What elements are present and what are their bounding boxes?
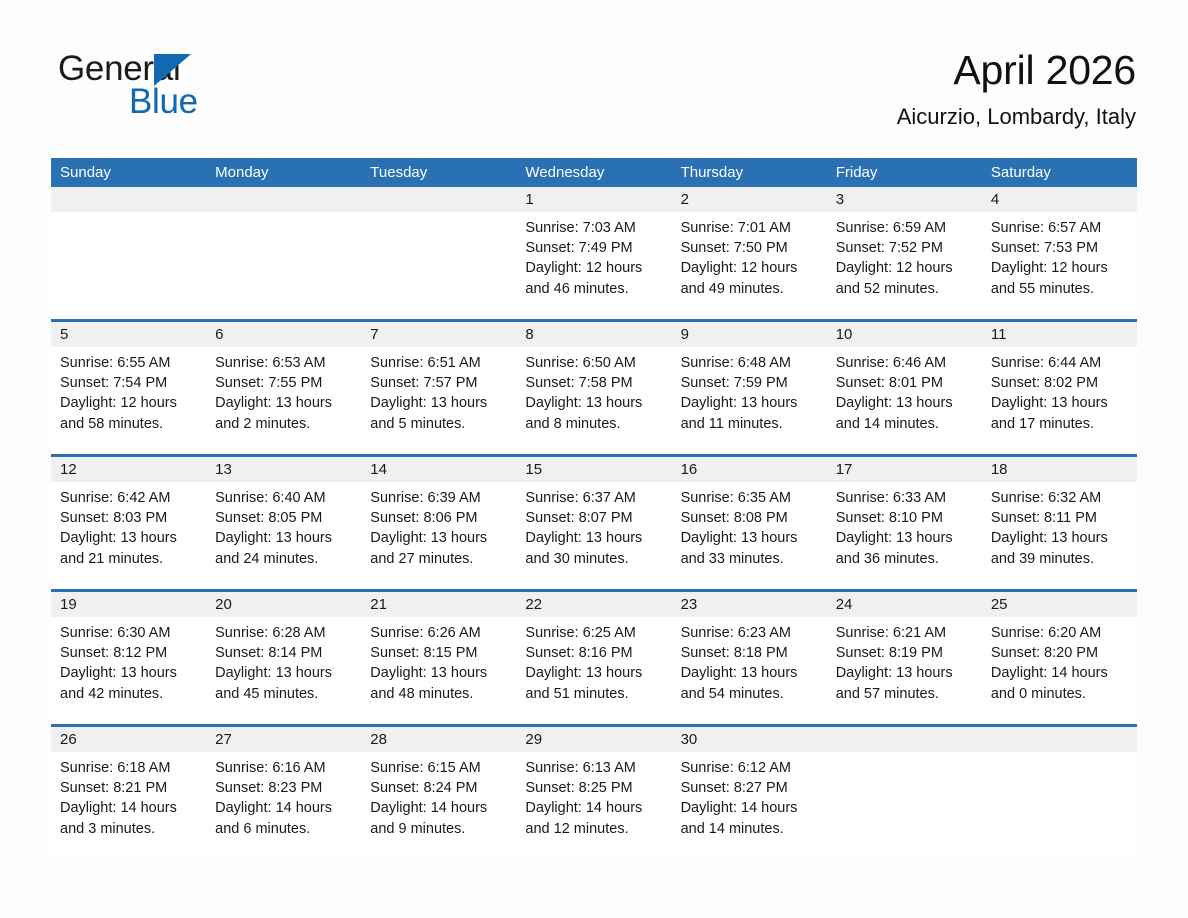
day-daylight-line1-text: Daylight: 14 hours — [215, 798, 351, 818]
day-sunset-text: Sunset: 8:20 PM — [991, 643, 1127, 663]
day-daylight-line2-text: and 49 minutes. — [681, 279, 817, 299]
day-number: 4 — [982, 187, 1137, 212]
calendar-day-cell[interactable]: 7Sunrise: 6:51 AMSunset: 7:57 PMDaylight… — [361, 322, 516, 454]
day-sunrise-text: Sunrise: 6:33 AM — [836, 488, 972, 508]
day-sunset-text: Sunset: 8:03 PM — [60, 508, 196, 528]
day-details: Sunrise: 6:37 AMSunset: 8:07 PMDaylight:… — [516, 482, 671, 569]
day-sunrise-text: Sunrise: 6:18 AM — [60, 758, 196, 778]
day-daylight-line2-text: and 14 minutes. — [836, 414, 972, 434]
day-sunrise-text: Sunrise: 6:25 AM — [525, 623, 661, 643]
day-daylight-line1-text: Daylight: 12 hours — [525, 258, 661, 278]
page-header: General Blue April 2026 Aicurzio, Lombar… — [0, 0, 1188, 155]
day-daylight-line2-text: and 14 minutes. — [681, 819, 817, 839]
day-number: 22 — [516, 592, 671, 617]
calendar-week-row: 19Sunrise: 6:30 AMSunset: 8:12 PMDayligh… — [51, 589, 1137, 724]
day-daylight-line1-text: Daylight: 12 hours — [991, 258, 1127, 278]
weekday-header-row: Sunday Monday Tuesday Wednesday Thursday… — [51, 158, 1137, 187]
day-sunrise-text: Sunrise: 6:28 AM — [215, 623, 351, 643]
calendar-day-cell[interactable]: 10Sunrise: 6:46 AMSunset: 8:01 PMDayligh… — [827, 322, 982, 454]
day-sunrise-text: Sunrise: 6:23 AM — [681, 623, 817, 643]
page-title: April 2026 — [897, 46, 1136, 94]
day-number: 13 — [206, 457, 361, 482]
day-sunset-text: Sunset: 8:07 PM — [525, 508, 661, 528]
calendar-day-cell[interactable]: 6Sunrise: 6:53 AMSunset: 7:55 PMDaylight… — [206, 322, 361, 454]
calendar-day-cell[interactable]: 5Sunrise: 6:55 AMSunset: 7:54 PMDaylight… — [51, 322, 206, 454]
day-sunrise-text: Sunrise: 6:35 AM — [681, 488, 817, 508]
day-daylight-line1-text: Daylight: 13 hours — [60, 528, 196, 548]
day-daylight-line2-text: and 11 minutes. — [681, 414, 817, 434]
day-number: 2 — [672, 187, 827, 212]
day-details: Sunrise: 6:51 AMSunset: 7:57 PMDaylight:… — [361, 347, 516, 434]
calendar-day-cell[interactable]: 26Sunrise: 6:18 AMSunset: 8:21 PMDayligh… — [51, 727, 206, 859]
day-sunrise-text: Sunrise: 6:44 AM — [991, 353, 1127, 373]
day-daylight-line1-text: Daylight: 13 hours — [215, 663, 351, 683]
day-sunrise-text: Sunrise: 6:39 AM — [370, 488, 506, 508]
day-sunrise-text: Sunrise: 6:21 AM — [836, 623, 972, 643]
calendar-day-cell[interactable]: 19Sunrise: 6:30 AMSunset: 8:12 PMDayligh… — [51, 592, 206, 724]
calendar-day-cell[interactable]: 29Sunrise: 6:13 AMSunset: 8:25 PMDayligh… — [516, 727, 671, 859]
day-details: Sunrise: 6:30 AMSunset: 8:12 PMDaylight:… — [51, 617, 206, 704]
calendar-day-cell[interactable]: 8Sunrise: 6:50 AMSunset: 7:58 PMDaylight… — [516, 322, 671, 454]
day-daylight-line1-text: Daylight: 12 hours — [836, 258, 972, 278]
day-daylight-line2-text: and 48 minutes. — [370, 684, 506, 704]
day-sunset-text: Sunset: 7:57 PM — [370, 373, 506, 393]
day-details: Sunrise: 6:40 AMSunset: 8:05 PMDaylight:… — [206, 482, 361, 569]
day-number: 11 — [982, 322, 1137, 347]
calendar-day-cell[interactable]: 24Sunrise: 6:21 AMSunset: 8:19 PMDayligh… — [827, 592, 982, 724]
day-daylight-line2-text: and 46 minutes. — [525, 279, 661, 299]
day-sunset-text: Sunset: 8:21 PM — [60, 778, 196, 798]
day-daylight-line1-text: Daylight: 13 hours — [525, 393, 661, 413]
day-details: Sunrise: 7:03 AMSunset: 7:49 PMDaylight:… — [516, 212, 671, 299]
day-sunset-text: Sunset: 8:14 PM — [215, 643, 351, 663]
day-daylight-line2-text: and 2 minutes. — [215, 414, 351, 434]
day-sunrise-text: Sunrise: 7:03 AM — [525, 218, 661, 238]
day-details: Sunrise: 6:44 AMSunset: 8:02 PMDaylight:… — [982, 347, 1137, 434]
day-daylight-line1-text: Daylight: 13 hours — [525, 528, 661, 548]
day-details: Sunrise: 6:48 AMSunset: 7:59 PMDaylight:… — [672, 347, 827, 434]
day-details: Sunrise: 6:28 AMSunset: 8:14 PMDaylight:… — [206, 617, 361, 704]
logo-text-blue: Blue — [129, 83, 198, 121]
calendar-day-cell[interactable]: 14Sunrise: 6:39 AMSunset: 8:06 PMDayligh… — [361, 457, 516, 589]
calendar-week-row: 5Sunrise: 6:55 AMSunset: 7:54 PMDaylight… — [51, 319, 1137, 454]
day-sunset-text: Sunset: 7:53 PM — [991, 238, 1127, 258]
day-daylight-line2-text: and 30 minutes. — [525, 549, 661, 569]
weekday-header-thursday: Thursday — [672, 158, 827, 187]
day-number: 30 — [672, 727, 827, 752]
day-details: Sunrise: 6:57 AMSunset: 7:53 PMDaylight:… — [982, 212, 1137, 299]
calendar-grid: Sunday Monday Tuesday Wednesday Thursday… — [51, 158, 1137, 859]
day-sunrise-text: Sunrise: 6:15 AM — [370, 758, 506, 778]
day-daylight-line2-text: and 57 minutes. — [836, 684, 972, 704]
day-sunset-text: Sunset: 7:59 PM — [681, 373, 817, 393]
calendar-day-cell[interactable]: 13Sunrise: 6:40 AMSunset: 8:05 PMDayligh… — [206, 457, 361, 589]
day-number: 19 — [51, 592, 206, 617]
calendar-day-cell[interactable]: 20Sunrise: 6:28 AMSunset: 8:14 PMDayligh… — [206, 592, 361, 724]
day-sunset-text: Sunset: 8:15 PM — [370, 643, 506, 663]
calendar-week-row: 26Sunrise: 6:18 AMSunset: 8:21 PMDayligh… — [51, 724, 1137, 859]
day-number: 24 — [827, 592, 982, 617]
day-number: 5 — [51, 322, 206, 347]
calendar-day-cell[interactable]: 28Sunrise: 6:15 AMSunset: 8:24 PMDayligh… — [361, 727, 516, 859]
day-number: 17 — [827, 457, 982, 482]
day-sunset-text: Sunset: 8:25 PM — [525, 778, 661, 798]
day-daylight-line1-text: Daylight: 13 hours — [370, 663, 506, 683]
day-number: 12 — [51, 457, 206, 482]
day-details: Sunrise: 6:33 AMSunset: 8:10 PMDaylight:… — [827, 482, 982, 569]
generalblue-logo[interactable]: General Blue — [58, 50, 318, 120]
day-number: 10 — [827, 322, 982, 347]
day-daylight-line2-text: and 21 minutes. — [60, 549, 196, 569]
calendar-day-cell-empty — [982, 727, 1137, 859]
calendar-day-cell[interactable]: 30Sunrise: 6:12 AMSunset: 8:27 PMDayligh… — [672, 727, 827, 859]
day-daylight-line2-text: and 0 minutes. — [991, 684, 1127, 704]
day-details: Sunrise: 6:25 AMSunset: 8:16 PMDaylight:… — [516, 617, 671, 704]
day-sunrise-text: Sunrise: 6:26 AM — [370, 623, 506, 643]
day-sunrise-text: Sunrise: 6:12 AM — [681, 758, 817, 778]
day-sunset-text: Sunset: 8:06 PM — [370, 508, 506, 528]
day-sunset-text: Sunset: 7:54 PM — [60, 373, 196, 393]
calendar-week-row: 1Sunrise: 7:03 AMSunset: 7:49 PMDaylight… — [51, 187, 1137, 319]
day-sunrise-text: Sunrise: 6:40 AM — [215, 488, 351, 508]
day-daylight-line2-text: and 5 minutes. — [370, 414, 506, 434]
calendar-week-row: 12Sunrise: 6:42 AMSunset: 8:03 PMDayligh… — [51, 454, 1137, 589]
day-number: 27 — [206, 727, 361, 752]
day-daylight-line1-text: Daylight: 13 hours — [681, 663, 817, 683]
day-details: Sunrise: 6:39 AMSunset: 8:06 PMDaylight:… — [361, 482, 516, 569]
day-daylight-line1-text: Daylight: 13 hours — [370, 528, 506, 548]
day-number: 26 — [51, 727, 206, 752]
calendar-day-cell-empty — [51, 187, 206, 319]
title-block: April 2026 Aicurzio, Lombardy, Italy — [897, 46, 1136, 130]
calendar-day-cell[interactable]: 22Sunrise: 6:25 AMSunset: 8:16 PMDayligh… — [516, 592, 671, 724]
calendar-day-cell[interactable]: 15Sunrise: 6:37 AMSunset: 8:07 PMDayligh… — [516, 457, 671, 589]
day-sunrise-text: Sunrise: 6:51 AM — [370, 353, 506, 373]
day-sunset-text: Sunset: 7:50 PM — [681, 238, 817, 258]
day-sunrise-text: Sunrise: 6:48 AM — [681, 353, 817, 373]
day-daylight-line2-text: and 39 minutes. — [991, 549, 1127, 569]
day-number: 23 — [672, 592, 827, 617]
day-number: 9 — [672, 322, 827, 347]
day-daylight-line1-text: Daylight: 13 hours — [836, 528, 972, 548]
calendar-day-cell[interactable]: 18Sunrise: 6:32 AMSunset: 8:11 PMDayligh… — [982, 457, 1137, 589]
day-daylight-line2-text: and 54 minutes. — [681, 684, 817, 704]
day-sunset-text: Sunset: 8:12 PM — [60, 643, 196, 663]
day-sunrise-text: Sunrise: 6:16 AM — [215, 758, 351, 778]
weekday-header-tuesday: Tuesday — [361, 158, 516, 187]
day-daylight-line1-text: Daylight: 14 hours — [991, 663, 1127, 683]
day-sunrise-text: Sunrise: 6:46 AM — [836, 353, 972, 373]
page-subtitle: Aicurzio, Lombardy, Italy — [897, 104, 1136, 130]
day-sunset-text: Sunset: 7:55 PM — [215, 373, 351, 393]
day-daylight-line1-text: Daylight: 13 hours — [991, 393, 1127, 413]
day-daylight-line2-text: and 9 minutes. — [370, 819, 506, 839]
calendar-day-cell[interactable]: 27Sunrise: 6:16 AMSunset: 8:23 PMDayligh… — [206, 727, 361, 859]
day-number: 6 — [206, 322, 361, 347]
day-sunrise-text: Sunrise: 6:42 AM — [60, 488, 196, 508]
day-number: 20 — [206, 592, 361, 617]
day-number: 29 — [516, 727, 671, 752]
calendar-day-cell[interactable]: 2Sunrise: 7:01 AMSunset: 7:50 PMDaylight… — [672, 187, 827, 319]
weekday-header-wednesday: Wednesday — [516, 158, 671, 187]
calendar-day-cell[interactable]: 25Sunrise: 6:20 AMSunset: 8:20 PMDayligh… — [982, 592, 1137, 724]
calendar-day-cell[interactable]: 3Sunrise: 6:59 AMSunset: 7:52 PMDaylight… — [827, 187, 982, 319]
calendar-day-cell[interactable]: 4Sunrise: 6:57 AMSunset: 7:53 PMDaylight… — [982, 187, 1137, 319]
day-sunset-text: Sunset: 8:11 PM — [991, 508, 1127, 528]
day-details: Sunrise: 6:26 AMSunset: 8:15 PMDaylight:… — [361, 617, 516, 704]
day-sunrise-text: Sunrise: 6:32 AM — [991, 488, 1127, 508]
day-sunrise-text: Sunrise: 6:53 AM — [215, 353, 351, 373]
day-daylight-line2-text: and 42 minutes. — [60, 684, 196, 704]
calendar-day-cell[interactable]: 1Sunrise: 7:03 AMSunset: 7:49 PMDaylight… — [516, 187, 671, 319]
calendar-day-cell[interactable]: 21Sunrise: 6:26 AMSunset: 8:15 PMDayligh… — [361, 592, 516, 724]
day-details: Sunrise: 6:18 AMSunset: 8:21 PMDaylight:… — [51, 752, 206, 839]
day-details: Sunrise: 6:12 AMSunset: 8:27 PMDaylight:… — [672, 752, 827, 839]
day-daylight-line2-text: and 58 minutes. — [60, 414, 196, 434]
day-number — [206, 187, 361, 212]
day-number: 8 — [516, 322, 671, 347]
day-number — [51, 187, 206, 212]
day-number: 14 — [361, 457, 516, 482]
day-sunrise-text: Sunrise: 6:57 AM — [991, 218, 1127, 238]
calendar-day-cell[interactable]: 9Sunrise: 6:48 AMSunset: 7:59 PMDaylight… — [672, 322, 827, 454]
calendar-day-cell[interactable]: 23Sunrise: 6:23 AMSunset: 8:18 PMDayligh… — [672, 592, 827, 724]
day-sunset-text: Sunset: 7:52 PM — [836, 238, 972, 258]
day-details: Sunrise: 7:01 AMSunset: 7:50 PMDaylight:… — [672, 212, 827, 299]
day-sunrise-text: Sunrise: 6:59 AM — [836, 218, 972, 238]
day-daylight-line1-text: Daylight: 14 hours — [60, 798, 196, 818]
day-daylight-line1-text: Daylight: 14 hours — [370, 798, 506, 818]
calendar-page: General Blue April 2026 Aicurzio, Lombar… — [0, 0, 1188, 918]
day-details: Sunrise: 6:23 AMSunset: 8:18 PMDaylight:… — [672, 617, 827, 704]
weekday-header-friday: Friday — [827, 158, 982, 187]
day-sunrise-text: Sunrise: 6:50 AM — [525, 353, 661, 373]
day-details: Sunrise: 6:46 AMSunset: 8:01 PMDaylight:… — [827, 347, 982, 434]
day-daylight-line1-text: Daylight: 14 hours — [681, 798, 817, 818]
day-number: 18 — [982, 457, 1137, 482]
day-daylight-line1-text: Daylight: 13 hours — [215, 393, 351, 413]
day-daylight-line2-text: and 24 minutes. — [215, 549, 351, 569]
day-daylight-line1-text: Daylight: 13 hours — [836, 393, 972, 413]
day-details: Sunrise: 6:35 AMSunset: 8:08 PMDaylight:… — [672, 482, 827, 569]
day-details: Sunrise: 6:59 AMSunset: 7:52 PMDaylight:… — [827, 212, 982, 299]
weekday-header-sunday: Sunday — [51, 158, 206, 187]
day-daylight-line2-text: and 6 minutes. — [215, 819, 351, 839]
day-details: Sunrise: 6:32 AMSunset: 8:11 PMDaylight:… — [982, 482, 1137, 569]
day-details: Sunrise: 6:16 AMSunset: 8:23 PMDaylight:… — [206, 752, 361, 839]
day-sunrise-text: Sunrise: 6:13 AM — [525, 758, 661, 778]
day-number: 28 — [361, 727, 516, 752]
day-sunset-text: Sunset: 8:23 PM — [215, 778, 351, 798]
day-sunset-text: Sunset: 8:19 PM — [836, 643, 972, 663]
day-details: Sunrise: 6:53 AMSunset: 7:55 PMDaylight:… — [206, 347, 361, 434]
day-sunrise-text: Sunrise: 6:20 AM — [991, 623, 1127, 643]
day-number: 21 — [361, 592, 516, 617]
day-details: Sunrise: 6:55 AMSunset: 7:54 PMDaylight:… — [51, 347, 206, 434]
day-daylight-line2-text: and 27 minutes. — [370, 549, 506, 569]
day-details: Sunrise: 6:21 AMSunset: 8:19 PMDaylight:… — [827, 617, 982, 704]
day-number — [361, 187, 516, 212]
day-daylight-line1-text: Daylight: 13 hours — [836, 663, 972, 683]
day-daylight-line1-text: Daylight: 13 hours — [370, 393, 506, 413]
day-daylight-line1-text: Daylight: 13 hours — [681, 393, 817, 413]
day-daylight-line2-text: and 45 minutes. — [215, 684, 351, 704]
day-daylight-line2-text: and 51 minutes. — [525, 684, 661, 704]
calendar-day-cell[interactable]: 11Sunrise: 6:44 AMSunset: 8:02 PMDayligh… — [982, 322, 1137, 454]
day-daylight-line2-text: and 3 minutes. — [60, 819, 196, 839]
day-number: 1 — [516, 187, 671, 212]
day-daylight-line2-text: and 8 minutes. — [525, 414, 661, 434]
day-sunset-text: Sunset: 8:08 PM — [681, 508, 817, 528]
day-sunset-text: Sunset: 7:49 PM — [525, 238, 661, 258]
day-sunset-text: Sunset: 8:05 PM — [215, 508, 351, 528]
day-daylight-line1-text: Daylight: 13 hours — [991, 528, 1127, 548]
day-daylight-line1-text: Daylight: 12 hours — [681, 258, 817, 278]
day-sunset-text: Sunset: 7:58 PM — [525, 373, 661, 393]
day-sunrise-text: Sunrise: 6:37 AM — [525, 488, 661, 508]
day-number: 15 — [516, 457, 671, 482]
calendar-weeks: 1Sunrise: 7:03 AMSunset: 7:49 PMDaylight… — [51, 187, 1137, 859]
day-daylight-line2-text: and 17 minutes. — [991, 414, 1127, 434]
calendar-day-cell[interactable]: 16Sunrise: 6:35 AMSunset: 8:08 PMDayligh… — [672, 457, 827, 589]
day-sunset-text: Sunset: 8:16 PM — [525, 643, 661, 663]
day-number — [982, 727, 1137, 752]
day-daylight-line1-text: Daylight: 12 hours — [60, 393, 196, 413]
day-details: Sunrise: 6:42 AMSunset: 8:03 PMDaylight:… — [51, 482, 206, 569]
calendar-day-cell-empty — [206, 187, 361, 319]
day-daylight-line1-text: Daylight: 13 hours — [525, 663, 661, 683]
day-daylight-line2-text: and 33 minutes. — [681, 549, 817, 569]
day-details: Sunrise: 6:50 AMSunset: 7:58 PMDaylight:… — [516, 347, 671, 434]
day-number — [827, 727, 982, 752]
day-sunset-text: Sunset: 8:27 PM — [681, 778, 817, 798]
day-daylight-line2-text: and 12 minutes. — [525, 819, 661, 839]
day-sunset-text: Sunset: 8:18 PM — [681, 643, 817, 663]
day-daylight-line1-text: Daylight: 13 hours — [60, 663, 196, 683]
day-details: Sunrise: 6:15 AMSunset: 8:24 PMDaylight:… — [361, 752, 516, 839]
weekday-header-saturday: Saturday — [982, 158, 1137, 187]
calendar-day-cell[interactable]: 17Sunrise: 6:33 AMSunset: 8:10 PMDayligh… — [827, 457, 982, 589]
day-number: 3 — [827, 187, 982, 212]
day-sunset-text: Sunset: 8:24 PM — [370, 778, 506, 798]
day-sunset-text: Sunset: 8:02 PM — [991, 373, 1127, 393]
day-number: 16 — [672, 457, 827, 482]
calendar-day-cell[interactable]: 12Sunrise: 6:42 AMSunset: 8:03 PMDayligh… — [51, 457, 206, 589]
day-sunrise-text: Sunrise: 6:55 AM — [60, 353, 196, 373]
day-number: 7 — [361, 322, 516, 347]
day-sunrise-text: Sunrise: 7:01 AM — [681, 218, 817, 238]
day-sunset-text: Sunset: 8:10 PM — [836, 508, 972, 528]
day-details: Sunrise: 6:13 AMSunset: 8:25 PMDaylight:… — [516, 752, 671, 839]
day-sunset-text: Sunset: 8:01 PM — [836, 373, 972, 393]
day-number: 25 — [982, 592, 1137, 617]
day-details: Sunrise: 6:20 AMSunset: 8:20 PMDaylight:… — [982, 617, 1137, 704]
day-daylight-line1-text: Daylight: 13 hours — [681, 528, 817, 548]
weekday-header-monday: Monday — [206, 158, 361, 187]
calendar-day-cell-empty — [361, 187, 516, 319]
day-daylight-line1-text: Daylight: 13 hours — [215, 528, 351, 548]
calendar-day-cell-empty — [827, 727, 982, 859]
day-daylight-line2-text: and 52 minutes. — [836, 279, 972, 299]
day-daylight-line1-text: Daylight: 14 hours — [525, 798, 661, 818]
day-daylight-line2-text: and 36 minutes. — [836, 549, 972, 569]
day-sunrise-text: Sunrise: 6:30 AM — [60, 623, 196, 643]
day-daylight-line2-text: and 55 minutes. — [991, 279, 1127, 299]
